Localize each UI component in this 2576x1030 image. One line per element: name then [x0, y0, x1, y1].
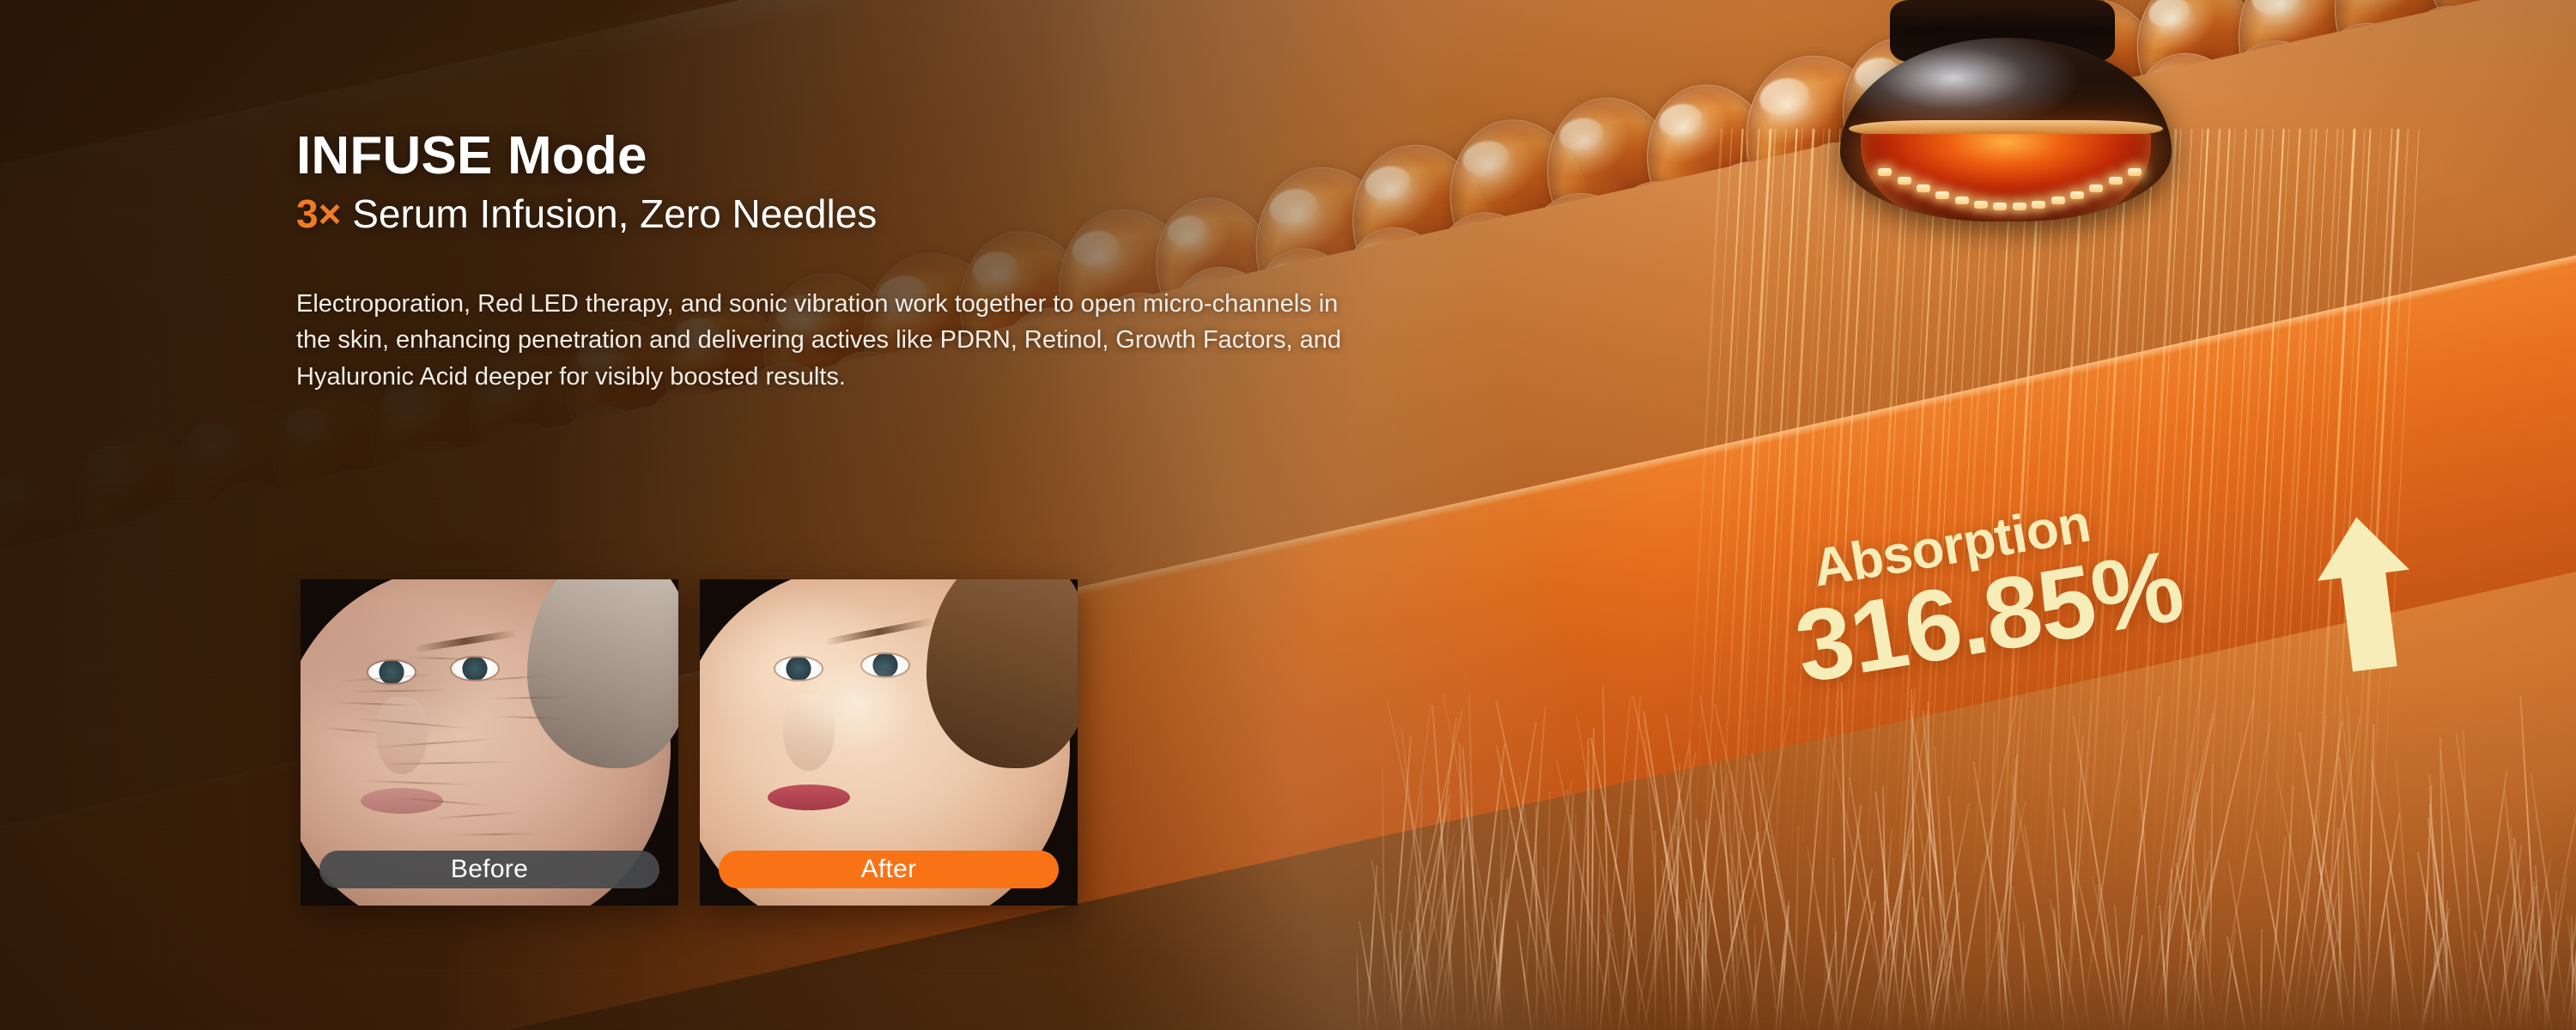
subtitle-text: Serum Infusion, Zero Needles: [341, 191, 877, 236]
skin-sheen-after: [775, 638, 942, 768]
before-after-comparison: Before After: [301, 579, 1078, 906]
subtitle: 3× Serum Infusion, Zero Needles: [296, 193, 1404, 236]
before-label: Before: [319, 851, 659, 888]
after-label: After: [719, 851, 1059, 888]
after-card[interactable]: After: [700, 579, 1078, 906]
body-paragraph: Electroporation, Red LED therapy, and so…: [296, 286, 1352, 395]
page-title: INFUSE Mode: [296, 129, 1404, 183]
multiplier-badge: 3×: [296, 191, 341, 236]
before-card[interactable]: Before: [301, 579, 678, 906]
infuse-mode-banner: INFUSE Mode 3× Serum Infusion, Zero Need…: [0, 0, 2576, 1030]
copy-block: INFUSE Mode 3× Serum Infusion, Zero Need…: [296, 129, 1404, 395]
